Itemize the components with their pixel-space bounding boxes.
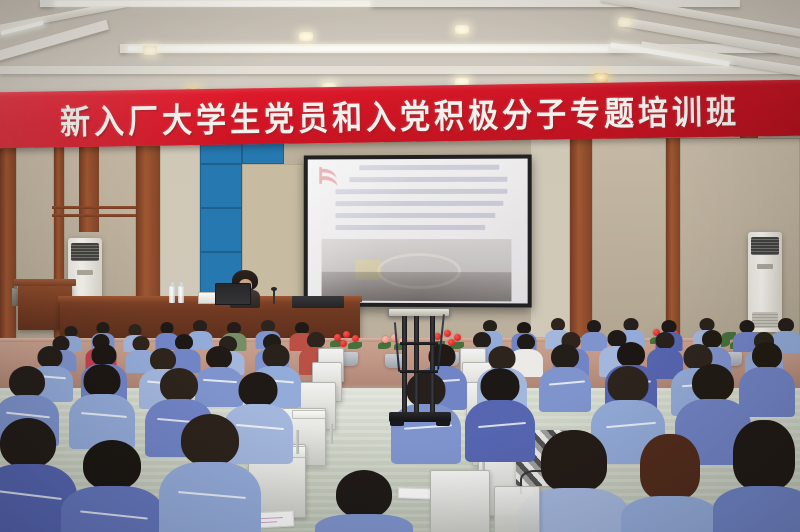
- projector-trolley: [392, 308, 448, 422]
- person-torso: [61, 486, 163, 532]
- person-head: [733, 420, 795, 490]
- wall-panel: [592, 138, 666, 338]
- wall-wood-trim: [52, 214, 138, 217]
- wall-panel: [680, 138, 800, 338]
- person-head: [160, 368, 198, 402]
- audience-member: [714, 420, 800, 532]
- wall-wood-column: [570, 138, 592, 338]
- ac-grille: [71, 243, 99, 261]
- ceiling-downlight: [594, 73, 608, 82]
- banner-title: 新入厂大学生党员和入党积极分子专题培训班: [60, 84, 741, 144]
- person-torso: [713, 486, 800, 532]
- slide-text-line: [335, 225, 485, 230]
- photograph-scene: 新入厂大学生党员和入党积极分子专题培训班: [0, 0, 800, 532]
- cart-post: [402, 316, 407, 414]
- audience-member: [62, 440, 162, 532]
- ceiling-downlight: [299, 32, 313, 41]
- wall-wood-column: [666, 138, 680, 338]
- seat-leg: [296, 430, 299, 454]
- cart-shelf: [400, 342, 438, 345]
- ceiling-strip-light: [55, 1, 370, 6]
- person-head: [489, 346, 516, 370]
- audience-member: [540, 344, 590, 408]
- cart-post: [430, 316, 435, 414]
- microphone: [273, 290, 275, 304]
- audience-member: [70, 364, 134, 444]
- audience-member: [316, 470, 412, 532]
- wall-wood-trim: [79, 132, 99, 232]
- ac-grille: [751, 237, 779, 255]
- person-head: [9, 366, 45, 398]
- ac-display: [757, 264, 773, 269]
- audience-member: [622, 434, 718, 532]
- person-head: [92, 344, 117, 366]
- water-bottle: [169, 286, 175, 303]
- person-torso: [315, 514, 413, 532]
- person-head: [752, 342, 782, 369]
- person-torso: [621, 496, 719, 532]
- ceiling-strip-light: [128, 46, 608, 51]
- person-head: [84, 364, 121, 397]
- person-head: [617, 342, 645, 367]
- cart-post: [414, 316, 419, 414]
- slide-text-line: [349, 177, 507, 182]
- seat-writing-tablet: [292, 410, 326, 419]
- wall-panel: [530, 138, 570, 338]
- audience-member: [160, 414, 260, 532]
- person-head: [38, 346, 63, 368]
- person-head: [640, 434, 700, 500]
- person-head: [692, 364, 734, 402]
- person-head: [239, 372, 278, 407]
- person-head: [608, 366, 649, 403]
- person-head: [0, 418, 56, 468]
- wall-wood-trim: [52, 206, 138, 209]
- lectern-top: [14, 279, 76, 286]
- acoustic-panel-blue: [200, 208, 242, 252]
- person-head: [481, 368, 520, 403]
- person-head: [263, 344, 290, 368]
- projector-device: [388, 308, 450, 317]
- projection-screen: [304, 154, 532, 307]
- slide-text-line: [335, 189, 507, 194]
- slide-text-line: [335, 201, 503, 206]
- water-bottle: [178, 286, 184, 303]
- projection-screen-surface: [308, 159, 528, 304]
- slide-text-line: [359, 165, 499, 171]
- av-equipment: [292, 296, 344, 308]
- person-head: [83, 440, 141, 490]
- acoustic-panel-blue: [200, 164, 242, 208]
- ceiling-downlight: [455, 25, 469, 34]
- cart-wheel: [436, 420, 450, 426]
- person-head: [206, 346, 232, 369]
- slide-text-line: [335, 213, 495, 218]
- person-head: [336, 470, 392, 518]
- ac-display: [77, 270, 93, 275]
- power-cable: [394, 322, 400, 372]
- slide-photo: [322, 239, 512, 301]
- auditorium-seat[interactable]: [494, 486, 540, 532]
- seat-leg: [330, 424, 333, 444]
- cart-wheel: [390, 420, 404, 426]
- person-head: [541, 430, 607, 492]
- person-head: [778, 318, 794, 332]
- person-torso: [539, 367, 591, 412]
- laptop: [215, 283, 251, 305]
- power-cable: [437, 314, 445, 370]
- auditorium-seat[interactable]: [430, 470, 490, 532]
- cart-shelf: [400, 370, 438, 373]
- person-head: [307, 332, 325, 348]
- person-head: [181, 414, 239, 466]
- wall-wood-column: [0, 138, 16, 338]
- ceiling-downlight: [618, 18, 632, 27]
- party-emblem-icon: [314, 163, 344, 191]
- ceiling-downlight: [143, 46, 157, 55]
- air-conditioner-unit: [748, 232, 782, 332]
- person-head: [551, 344, 579, 369]
